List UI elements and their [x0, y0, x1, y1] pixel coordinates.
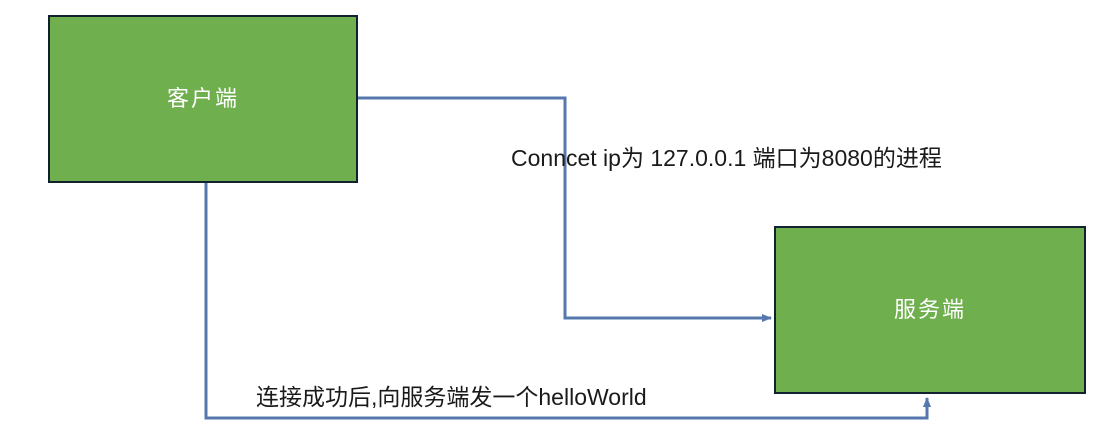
- edge-label-connect: Conncet ip为 127.0.0.1 端口为8080的进程: [511, 147, 942, 170]
- diagram-canvas: 客户端 服务端 Conncet ip为 127.0.0.1 端口为8080的进程…: [0, 0, 1098, 442]
- edge-label-hello: 连接成功后,向服务端发一个helloWorld: [256, 386, 647, 409]
- node-server-label: 服务端: [894, 299, 966, 321]
- node-client-label: 客户端: [167, 88, 239, 110]
- node-server[interactable]: 服务端: [774, 226, 1086, 394]
- node-client[interactable]: 客户端: [48, 15, 358, 183]
- connector-connect-edge: [358, 98, 771, 318]
